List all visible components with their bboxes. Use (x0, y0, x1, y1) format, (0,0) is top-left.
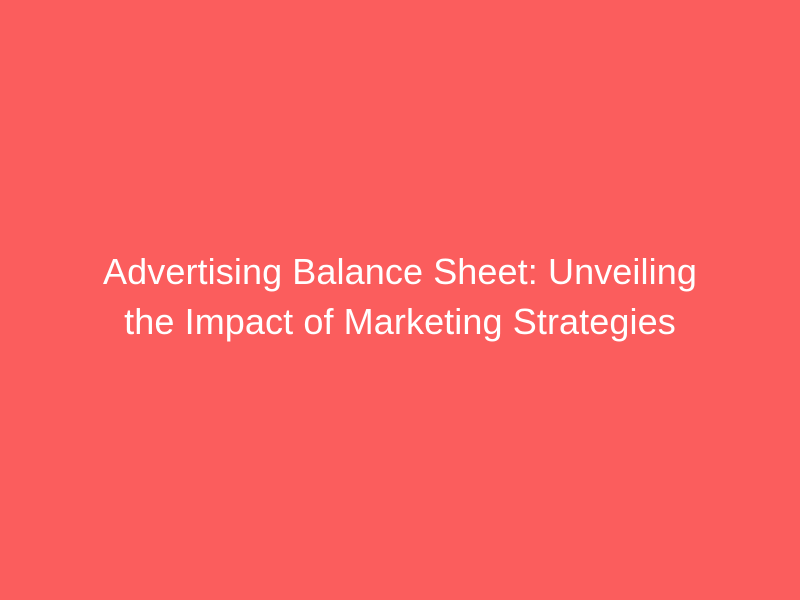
hero-banner: Advertising Balance Sheet: Unveiling the… (0, 0, 800, 600)
hero-title-block: Advertising Balance Sheet: Unveiling the… (80, 247, 720, 347)
page-title: Advertising Balance Sheet: Unveiling the… (80, 247, 720, 347)
